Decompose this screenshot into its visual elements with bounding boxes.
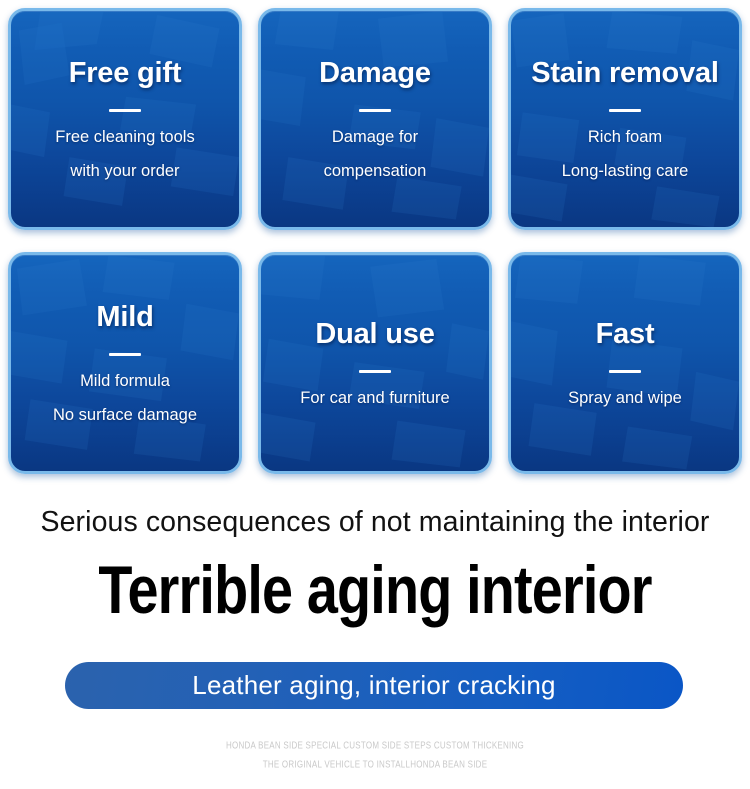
card-subtitle: Damage for (332, 128, 418, 146)
card-title: Damage (319, 58, 431, 88)
card-divider (109, 353, 141, 356)
feature-card-mild[interactable]: Mild Mild formula No surface damage (0, 244, 250, 488)
card-subtitle: No surface damage (53, 406, 197, 424)
card-divider (359, 370, 391, 373)
card-title: Mild (96, 302, 153, 332)
card-content: Damage Damage for compensation (261, 11, 489, 227)
card-surface: Damage Damage for compensation (258, 8, 492, 230)
fineprint-block: HONDA BEAN SIDE SPECIAL CUSTOM SIDE STEP… (0, 742, 750, 769)
card-content: Free gift Free cleaning tools with your … (11, 11, 239, 227)
card-content: Dual use For car and furniture (261, 255, 489, 471)
feature-card-grid: Free gift Free cleaning tools with your … (0, 0, 750, 488)
card-divider (109, 109, 141, 112)
card-title: Dual use (315, 319, 434, 349)
card-subtitle: compensation (324, 162, 427, 180)
card-subtitle: Mild formula (80, 372, 170, 390)
card-content: Mild Mild formula No surface damage (11, 255, 239, 471)
card-title: Stain removal (531, 58, 719, 88)
feature-card-free-gift[interactable]: Free gift Free cleaning tools with your … (0, 0, 250, 244)
card-subtitle: Rich foam (588, 128, 662, 146)
fineprint-line-2: THE ORIGINAL VEHICLE TO INSTALLHONDA BEA… (0, 760, 750, 770)
card-content: Fast Spray and wipe (511, 255, 739, 471)
headline-text: Terrible aging interior (68, 556, 683, 624)
card-divider (359, 109, 391, 112)
product-feature-page: Free gift Free cleaning tools with your … (0, 0, 750, 789)
card-title: Free gift (69, 58, 182, 88)
card-title: Fast (596, 319, 655, 349)
lede-text: Serious consequences of not maintaining … (0, 506, 750, 539)
card-subtitle: Spray and wipe (568, 389, 682, 407)
card-subtitle: For car and furniture (300, 389, 449, 407)
card-subtitle: with your order (70, 162, 179, 180)
feature-card-fast[interactable]: Fast Spray and wipe (500, 244, 750, 488)
feature-card-damage[interactable]: Damage Damage for compensation (250, 0, 500, 244)
card-surface: Free gift Free cleaning tools with your … (8, 8, 242, 230)
fineprint-line-1: HONDA BEAN SIDE SPECIAL CUSTOM SIDE STEP… (0, 741, 750, 751)
card-subtitle: Long-lasting care (562, 162, 689, 180)
card-surface: Dual use For car and furniture (258, 252, 492, 474)
card-divider (609, 370, 641, 373)
card-content: Stain removal Rich foam Long-lasting car… (511, 11, 739, 227)
card-surface: Fast Spray and wipe (508, 252, 742, 474)
banner-pill: Leather aging, interior cracking (65, 662, 683, 709)
card-surface: Mild Mild formula No surface damage (8, 252, 242, 474)
banner-text: Leather aging, interior cracking (192, 670, 555, 701)
feature-card-dual-use[interactable]: Dual use For car and furniture (250, 244, 500, 488)
card-surface: Stain removal Rich foam Long-lasting car… (508, 8, 742, 230)
feature-card-stain-removal[interactable]: Stain removal Rich foam Long-lasting car… (500, 0, 750, 244)
card-subtitle: Free cleaning tools (55, 128, 194, 146)
card-divider (609, 109, 641, 112)
